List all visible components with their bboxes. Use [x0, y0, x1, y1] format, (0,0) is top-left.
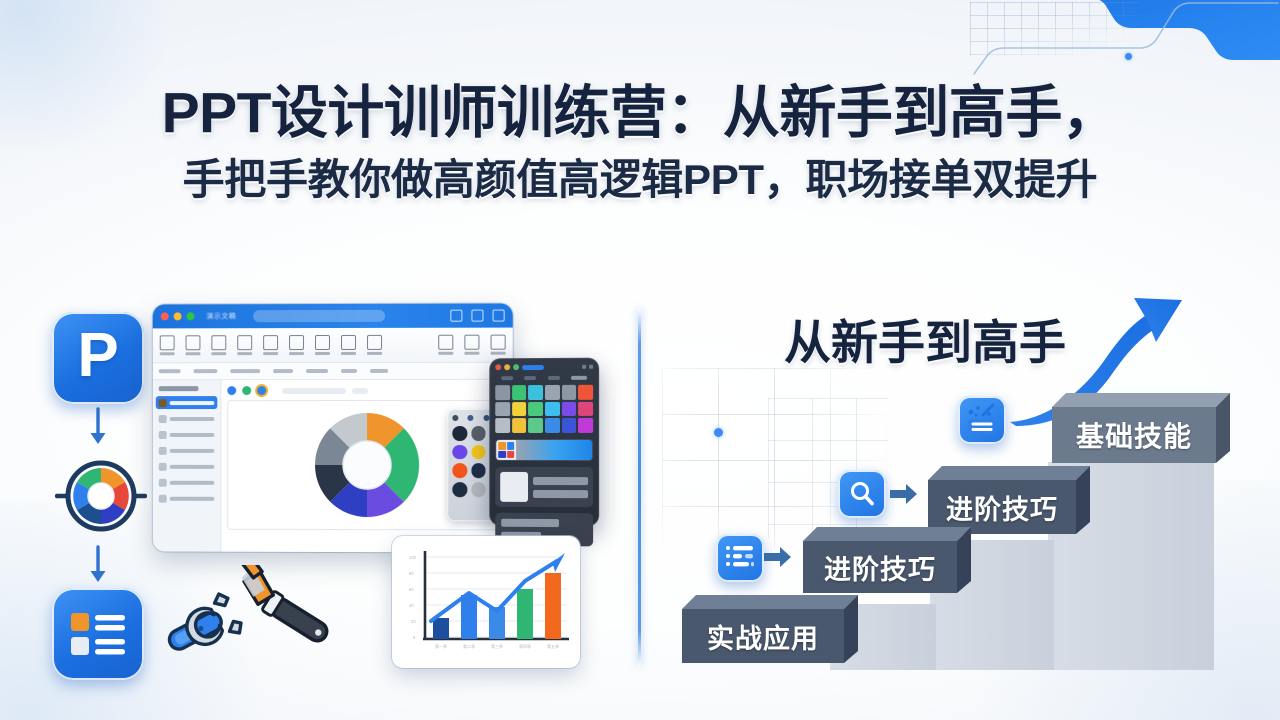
gradient-preview-thumb: [496, 440, 516, 460]
close-icon[interactable]: [161, 312, 169, 320]
ribbon-icon-font[interactable]: [211, 335, 226, 355]
dp-max-icon: [513, 364, 519, 370]
dp-close-icon: [495, 364, 501, 370]
svg-text:40: 40: [409, 603, 414, 608]
gradient-strip: [516, 440, 592, 460]
dp-tab-toggle: [571, 376, 587, 380]
dark-panel-titlebar[interactable]: [495, 364, 593, 371]
slide-layout-sidebar[interactable]: [153, 380, 222, 552]
step-practical[interactable]: 实战应用: [672, 595, 858, 672]
ribbon-icon-undo[interactable]: [289, 335, 304, 355]
swatch-mini-3: [483, 415, 489, 421]
canvas-tool-2[interactable]: [242, 386, 251, 395]
wrench-blue-icon: [163, 591, 245, 664]
canvas-field-small[interactable]: [352, 387, 368, 393]
step-label-practical: 实战应用: [682, 609, 844, 663]
dp-active-tab: [522, 365, 544, 370]
tab-transition[interactable]: [273, 369, 293, 373]
step-label-advanced-1: 进阶技巧: [803, 541, 957, 593]
sidebar-item-2[interactable]: [156, 412, 218, 425]
minimize-icon[interactable]: [174, 312, 182, 320]
tab-slideshow[interactable]: [341, 369, 357, 373]
dp-title-tools: [582, 365, 593, 369]
step-advanced-1[interactable]: 进阶技巧: [793, 527, 971, 602]
sidebar-item-5[interactable]: [156, 460, 218, 473]
maximize-icon[interactable]: [187, 312, 195, 320]
sidebar-item-6[interactable]: [156, 476, 218, 489]
tab-design[interactable]: [230, 369, 260, 373]
page-title: PPT设计训师训练营：从新手到高手，: [0, 84, 1280, 143]
arrow-right-icon-1: [764, 545, 792, 569]
layout-icon[interactable]: [52, 588, 144, 680]
dp-min-icon: [504, 364, 510, 370]
ribbon-tab-strip[interactable]: [153, 363, 513, 380]
svg-text:第三季: 第三季: [491, 643, 503, 649]
dp-tab-2: [524, 376, 536, 380]
tab-animation[interactable]: [306, 369, 328, 373]
step-basic-skills[interactable]: 基础技能: [1040, 393, 1230, 472]
swatch-mini-2: [468, 415, 474, 421]
dark-panel-tabs[interactable]: [495, 376, 593, 380]
step-label-advanced-2: 进阶技巧: [928, 480, 1076, 534]
share-icon: [450, 310, 462, 322]
canvas-tool-1[interactable]: [227, 386, 236, 395]
comment-icon: [471, 310, 483, 322]
bar-chart-card: 1008060 40200 第一季第二季第三季 第四季第五季: [392, 536, 580, 668]
sidebar-item-7[interactable]: [156, 492, 218, 505]
ribbon-toolbar[interactable]: [153, 328, 513, 364]
headline-block: PPT设计训师训练营：从新手到高手， 手把手教你做高颜值高逻辑PPT，职场接单双…: [0, 84, 1280, 203]
tab-view[interactable]: [370, 369, 388, 373]
bar-2: [461, 595, 477, 639]
window-title-bar[interactable]: 演示文稿: [153, 303, 513, 328]
svg-text:第四季: 第四季: [519, 643, 531, 649]
dark-color-panel[interactable]: [489, 358, 599, 527]
powerpoint-window-mock[interactable]: 演示文稿: [153, 303, 513, 552]
dark-panel-swatches[interactable]: [495, 385, 593, 433]
ribbon-icon-newslide[interactable]: [186, 335, 201, 355]
ribbon-icon-present[interactable]: [491, 335, 506, 355]
svg-text:第二季: 第二季: [463, 643, 475, 649]
canvas-tool-3[interactable]: [257, 386, 266, 395]
slide-content[interactable]: [227, 400, 506, 531]
magic-edit-icon[interactable]: [958, 396, 1006, 444]
sidebar-item-4[interactable]: [156, 444, 218, 457]
dark-panel-gradient-bar[interactable]: [495, 439, 593, 461]
svg-text:80: 80: [409, 571, 414, 576]
arrow-down-icon-2: [52, 542, 144, 588]
ribbon-icon-table[interactable]: [367, 335, 382, 355]
ribbon-icon-chart[interactable]: [341, 335, 356, 355]
list-form-icon[interactable]: [716, 534, 764, 582]
svg-text:100: 100: [409, 555, 417, 560]
window-title-tools[interactable]: [450, 310, 504, 322]
sidebar-item-3[interactable]: [156, 428, 218, 441]
svg-text:第五季: 第五季: [547, 643, 559, 649]
page-subtitle: 手把手教你做高颜值高逻辑PPT，职场接单双提升: [0, 157, 1280, 202]
step-label-basic: 基础技能: [1052, 407, 1216, 463]
canvas-toolbar[interactable]: [227, 386, 506, 395]
dp-tab-3: [548, 376, 560, 380]
arrow-right-icon-2: [890, 482, 918, 506]
preview-lines: [533, 472, 588, 502]
tab-home[interactable]: [159, 369, 181, 373]
ribbon-icon-animation[interactable]: [438, 335, 453, 355]
poster-canvas: PPT设计训师训练营：从新手到高手， 手把手教你做高颜值高逻辑PPT，职场接单双…: [0, 0, 1280, 720]
powerpoint-letter: P: [77, 325, 118, 387]
dp-tab-1: [501, 376, 513, 380]
powerpoint-icon[interactable]: P: [52, 312, 144, 404]
top-right-node-dot: [1125, 53, 1132, 60]
slide-canvas[interactable]: [221, 380, 512, 553]
sidebar-header-label: [159, 386, 199, 391]
ribbon-icon-picture[interactable]: [315, 335, 330, 355]
svg-text:60: 60: [409, 587, 414, 592]
svg-text:0: 0: [413, 635, 416, 640]
canvas-field[interactable]: [282, 387, 346, 393]
ribbon-icon-transition[interactable]: [464, 335, 479, 355]
tab-insert[interactable]: [193, 369, 217, 373]
donut-chart: [305, 403, 429, 527]
color-wheel-icon[interactable]: [55, 450, 147, 542]
bar-5: [545, 573, 561, 639]
ribbon-icon-shape[interactable]: [263, 335, 278, 355]
svg-text:第一季: 第一季: [435, 643, 447, 649]
bar-4: [517, 589, 533, 639]
search-input[interactable]: [253, 310, 385, 322]
section-divider: [638, 308, 641, 666]
window-title-label: 演示文稿: [206, 311, 236, 321]
ribbon-icon-paste[interactable]: [160, 335, 175, 355]
swatch-mini-1: [452, 415, 458, 421]
bar-chart: 1008060 40200 第一季第二季第三季 第四季第五季: [401, 545, 571, 659]
search-icon[interactable]: [838, 470, 886, 518]
sidebar-item-selected[interactable]: [156, 396, 218, 409]
left-icon-column: P: [52, 312, 150, 680]
window-body: [153, 380, 513, 553]
svg-text:20: 20: [411, 619, 416, 624]
tools-group: [163, 565, 353, 670]
grid-node-dot: [714, 428, 723, 437]
arrow-down-icon-1: [52, 404, 144, 450]
top-right-outline: [960, 0, 1280, 78]
dark-panel-preview-block[interactable]: [495, 467, 593, 507]
bar-1: [433, 618, 449, 639]
wrench-adjustable-icon: [228, 565, 340, 646]
preview-thumbnail: [500, 472, 528, 502]
ribbon-icon-textbox[interactable]: [237, 335, 252, 355]
cloud-icon: [493, 310, 505, 322]
